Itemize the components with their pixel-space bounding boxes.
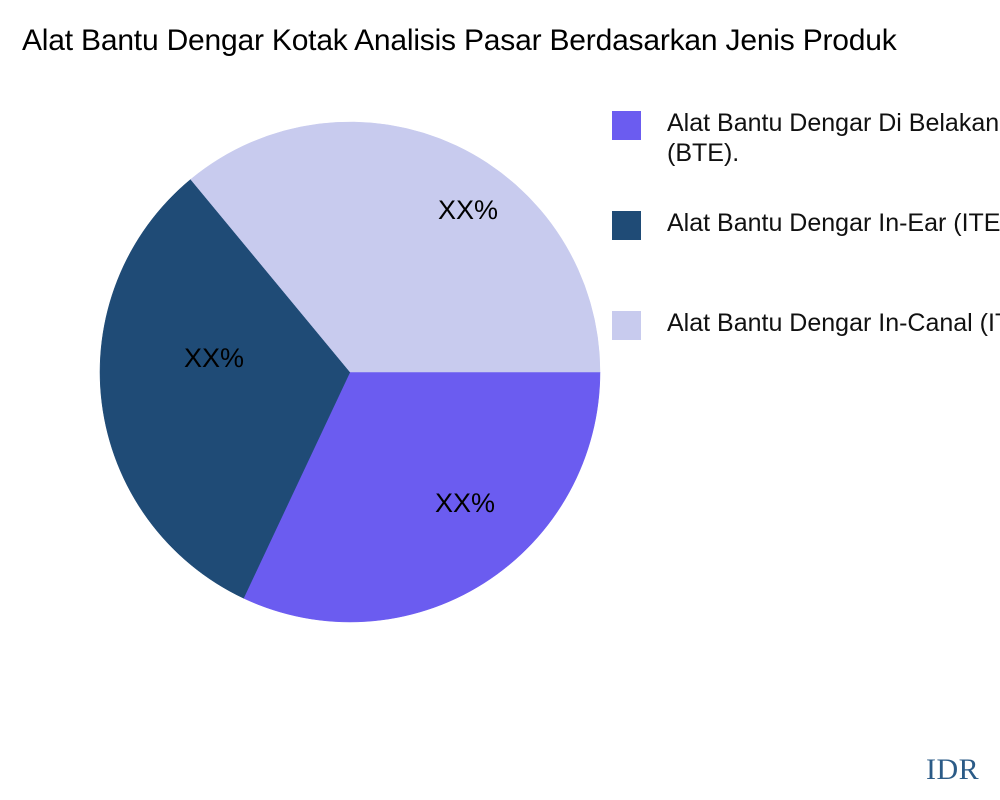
pie-slice-label: XX% <box>184 343 244 373</box>
legend-label-2: Alat Bantu Dengar In-Canal (ITC). <box>667 308 1000 338</box>
legend-swatch-icon-0 <box>612 111 641 140</box>
chart-page: Alat Bantu Dengar Kotak Analisis Pasar B… <box>0 0 1000 800</box>
legend-item-0[interactable]: Alat Bantu Dengar Di Belakang Telinga (B… <box>612 108 1000 168</box>
legend-swatch-icon-2 <box>612 311 641 340</box>
brand-mark: IDR <box>926 753 979 787</box>
pie-slice-label: XX% <box>435 488 495 518</box>
legend: Alat Bantu Dengar Di Belakang Telinga (B… <box>612 108 1000 368</box>
pie-slice-label: XX% <box>438 195 498 225</box>
legend-swatch-icon-1 <box>612 211 641 240</box>
legend-item-1[interactable]: Alat Bantu Dengar In-Ear (ITE). <box>612 208 1000 240</box>
legend-label-1: Alat Bantu Dengar In-Ear (ITE). <box>667 208 1000 238</box>
pie-slice-group <box>100 122 600 622</box>
legend-label-0: Alat Bantu Dengar Di Belakang Telinga (B… <box>667 108 1000 168</box>
legend-item-2[interactable]: Alat Bantu Dengar In-Canal (ITC). <box>612 308 1000 340</box>
